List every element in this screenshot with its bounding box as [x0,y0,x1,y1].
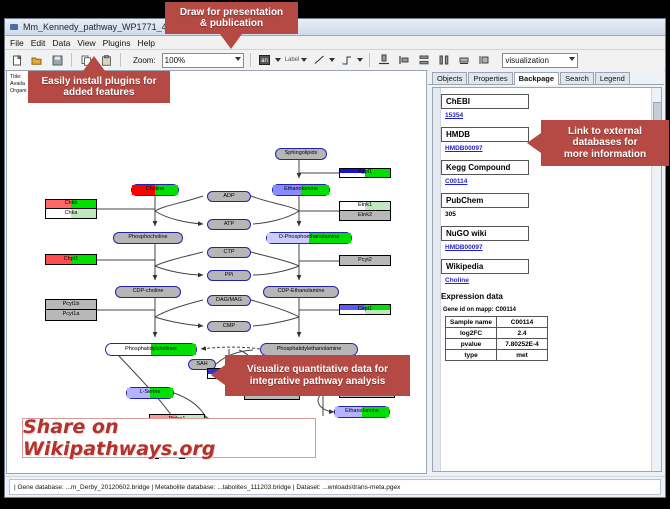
chevron-down-icon [275,58,281,62]
tab-objects[interactable]: Objects [432,72,467,85]
label-tool[interactable]: Label [285,57,308,63]
node-atp[interactable]: ATP [207,219,251,230]
same-width-icon[interactable] [456,52,472,68]
node-label: Chpt1 [64,257,79,263]
arrow-connector-icon [339,52,355,68]
chevron-down-icon [357,58,363,62]
node-phosphocholine[interactable]: Phosphocholine [113,232,183,244]
callout-link-arrow-icon [527,133,541,153]
table-cell-label: Sample name [446,317,497,328]
backpage-left-rail [433,88,441,471]
node-chkb[interactable]: Chkb [45,199,97,209]
menu-item-view[interactable]: View [77,38,95,48]
visualization-combo[interactable]: visualization [502,53,578,68]
same-height-icon[interactable] [476,52,492,68]
node-label: Sgpl1 [358,170,372,176]
db-link-chebi[interactable]: 15354 [445,112,661,119]
chevron-down-icon [329,58,335,62]
node-adp[interactable]: ADP [207,191,251,202]
node-label: CDP-Ethanolamine [277,289,324,295]
table-row: type met [446,350,548,361]
node-label: Choline [146,187,165,193]
title-bar: Mm_Kennedy_pathway_WP1771_45176.gpml [5,19,665,36]
node-etnk1[interactable]: Etnk1 [339,201,391,211]
screenshot-root: Mm_Kennedy_pathway_WP1771_45176.gpml Fil… [0,0,670,509]
table-cell-label: pvalue [446,339,497,350]
node-ethanolamine-top[interactable]: Ethanolamine [272,184,330,196]
node-label: Etnk2 [358,213,372,219]
node-pcyt1a[interactable]: Pcyt1a [45,310,97,321]
callout-visualize-arrow-icon [211,365,225,385]
share-text: Share on Wikipathways.org [23,416,315,460]
toolbar-separator-4 [369,53,370,67]
node-label: ATP [224,222,234,228]
tab-properties[interactable]: Properties [468,72,512,85]
menu-item-plugins[interactable]: Plugins [103,38,131,48]
callout-plugins-arrow-icon [83,56,105,71]
callout-plugins: Easily install plugins for added feature… [28,71,170,103]
node-chpt1[interactable]: Chpt1 [45,254,97,265]
node-phosphatidylcholines[interactable]: Phosphatidylcholines [105,343,197,356]
node-o-phosphoethanolamine[interactable]: O-Phosphoethanolamine [266,232,352,244]
callout-draw-arrow-icon [220,34,242,49]
node-label: Etnk1 [358,203,372,209]
callout-link: Link to external databases for more info… [541,120,669,166]
align-left-icon[interactable] [396,52,412,68]
node-label: Ethanolamine [345,409,379,415]
node-sgpl1[interactable]: Sgpl1 [339,168,391,178]
menu-bar: File Edit Data View Plugins Help [5,36,665,50]
node-label: Phosphatidylethanolamine [277,347,342,353]
visualization-value: visualization [505,56,549,65]
align-bottom-icon[interactable] [376,52,392,68]
chevron-down-icon [301,58,307,62]
menu-item-edit[interactable]: Edit [31,38,46,48]
menu-item-file[interactable]: File [10,38,24,48]
chevron-down-icon [569,57,575,61]
datanode-icon: an [257,52,273,68]
node-cmp[interactable]: CMP [207,321,251,332]
node-label: L-Serine [140,390,161,396]
node-cept1[interactable]: Cept1 [339,304,391,315]
node-pcyt2[interactable]: Pcyt2 [339,255,391,266]
pathway-canvas[interactable]: Title: Availa Organi [6,70,427,474]
node-label: O-Phosphoethanolamine [279,235,340,241]
node-label: CTP [224,250,235,256]
table-cell-value: 7.80252E-4 [497,339,548,350]
node-ctp[interactable]: CTP [207,247,251,258]
node-label: DAG/MAG [216,298,242,304]
table-row: pvalue 7.80252E-4 [446,339,548,350]
node-choline-top[interactable]: Choline [131,184,179,196]
node-label: Phosphocholine [128,235,167,241]
side-panel-tabs: Objects Properties Backpage Search Legen… [428,70,664,85]
toolbar-separator-3 [250,53,251,67]
table-cell-label: type [446,350,497,361]
datanode-tool[interactable]: an [257,52,281,68]
node-label: SAH [196,362,207,368]
node-label: Pcyt2 [358,258,372,264]
menu-item-data[interactable]: Data [52,38,70,48]
connector-tool[interactable] [339,52,363,68]
line-tool[interactable] [311,52,335,68]
new-file-icon[interactable] [9,52,25,68]
node-chka[interactable]: Chka [45,209,97,219]
tab-search[interactable]: Search [560,72,594,85]
node-label: Pcyt1a [63,312,80,318]
node-label: CDP-choline [133,289,164,295]
tab-backpage[interactable]: Backpage [514,72,559,86]
distribute-vertical-icon[interactable] [416,52,432,68]
db-title-wikipedia: Wikipedia [441,259,529,274]
zoom-label: Zoom: [133,56,156,65]
table-row: Sample name C00114 [446,317,548,328]
callout-draw: Draw for presentation & publication [165,2,298,34]
expression-data-header: Expression data [441,292,661,301]
expression-table: Sample name C00114 log2FC 2.4 pvalue 7.8… [445,316,548,361]
node-label: Chka [65,211,78,217]
table-row: log2FC 2.4 [446,328,548,339]
node-label: Chkb [65,201,78,207]
table-cell-label: log2FC [446,328,497,339]
node-cdp-ethanolamine[interactable]: CDP-Ethanolamine [263,286,339,298]
node-ethanolamine-lower[interactable]: Ethanolamine [334,406,390,418]
db-link-nugo-wiki[interactable]: HMDB00097 [445,244,661,251]
table-cell-value: met [497,350,548,361]
chevron-down-icon [235,57,241,61]
save-icon[interactable] [49,52,65,68]
menu-item-help[interactable]: Help [138,38,155,48]
line-icon [311,52,327,68]
share-banner: Share on Wikipathways.org [22,418,316,458]
toolbar-separator-1 [71,53,72,67]
gene-id-line: Gene id on mapp: C00114 [443,307,661,313]
db-value-pubchem: 305 [445,211,661,218]
node-ppi[interactable]: PPi [207,270,251,281]
node-etnk2[interactable]: Etnk2 [339,211,391,221]
node-label: Phosphatidylcholines [125,347,177,353]
node-cdp-choline[interactable]: CDP-choline [115,286,181,298]
db-link-kegg-compound[interactable]: C00114 [445,178,661,185]
table-cell-value: 2.4 [497,328,548,339]
node-dag-mag[interactable]: DAG/MAG [207,295,251,306]
table-cell-value: C00114 [497,317,548,328]
label-tool-text: Label [285,57,300,63]
tab-legend[interactable]: Legend [595,72,630,85]
callout-visualize: Visualize quantitative data for integrat… [225,355,410,396]
node-label: PPi [225,273,234,279]
node-label: CMP [223,324,235,330]
db-title-hmdb: HMDB [441,127,529,142]
node-l-serine-left[interactable]: L-Serine [126,387,174,399]
status-text: | Gene database: ...m_Derby_20120602.bri… [9,479,661,495]
node-pcyt1b[interactable]: Pcyt1b [45,299,97,310]
node-sphingolipids[interactable]: Sphingolipids [275,148,327,160]
zoom-value: 100% [165,56,185,65]
distribute-horizontal-icon[interactable] [436,52,452,68]
node-label: Sphingolipids [285,151,318,157]
node-label: Pcyt1b [63,302,80,308]
db-title-chebi: ChEBI [441,94,529,109]
db-title-kegg-compound: Kegg Compound [441,160,529,175]
node-label: Cept1 [358,307,373,313]
node-label: ADP [223,194,234,200]
open-folder-icon[interactable] [29,52,45,68]
svg-text:an: an [261,58,268,64]
db-title-nugo-wiki: NuGO wiki [441,226,529,241]
app-icon [9,22,19,32]
status-bar: | Gene database: ...m_Derby_20120602.bri… [5,476,665,497]
db-title-pubchem: PubChem [441,193,529,208]
node-label: Ethanolamine [284,187,318,193]
toolbar-separator-2 [120,53,121,67]
db-link-wikipedia[interactable]: Choline [445,277,661,284]
zoom-combo[interactable]: 100% [162,53,244,68]
